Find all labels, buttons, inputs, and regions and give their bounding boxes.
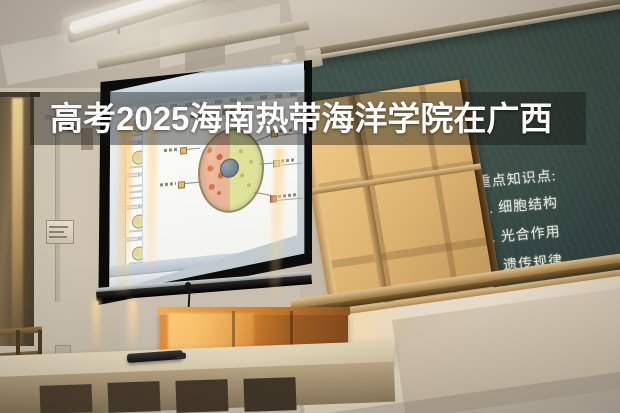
sunlight-streak <box>128 300 137 352</box>
callout-marker <box>180 147 187 155</box>
caption-text: 高考2025海南热带海洋学院在广西 <box>50 96 590 142</box>
remote-ir-tip <box>176 353 186 360</box>
callout-marker <box>178 181 185 189</box>
callout-marker <box>270 195 277 203</box>
blackboard-note-item-2: 2. 光合作用 <box>481 216 620 248</box>
wall-notice-line <box>49 231 64 233</box>
microphone-head <box>185 282 191 290</box>
thumbnail-text-line <box>129 229 143 232</box>
classroom-photo: 重点知识点: 1. 细胞结构 2. 光合作用 3. 遗传规律 <box>0 0 620 413</box>
wall-notice-line <box>49 226 68 228</box>
wall-notice-line <box>49 236 67 238</box>
callout-marker <box>273 160 280 168</box>
desk-cubby <box>107 381 160 413</box>
blackboard-note-item-1: 1. 细胞结构 <box>478 187 619 219</box>
desk-cubby <box>40 384 93 413</box>
thumbnail-text-line <box>129 190 142 193</box>
desk-cubby <box>243 377 296 412</box>
curtain-light-gap <box>12 98 23 348</box>
desk-cubby <box>175 379 228 413</box>
